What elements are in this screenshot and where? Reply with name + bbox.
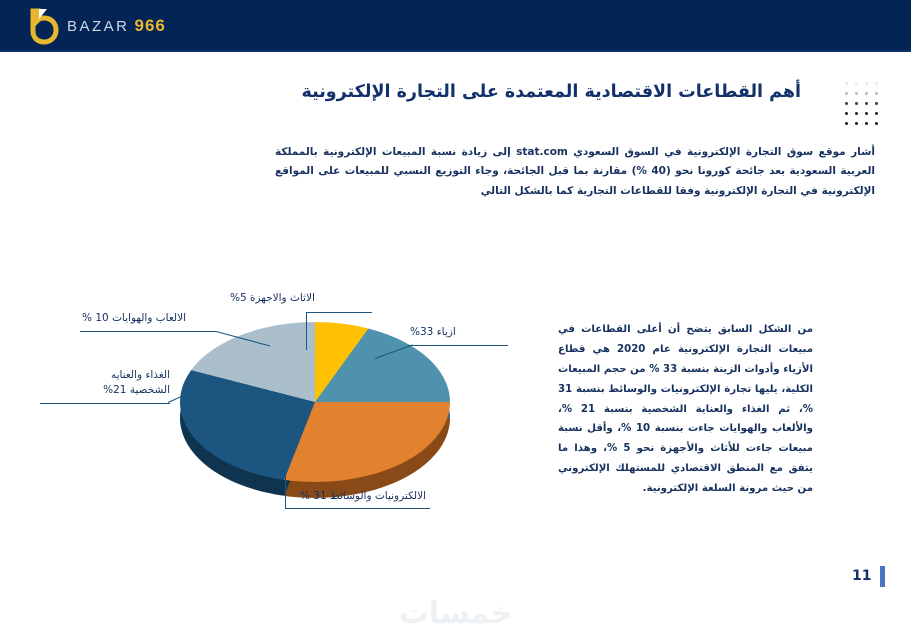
logo-suffix-text: 966 <box>135 16 166 36</box>
pie-leader-toys-h <box>80 331 216 332</box>
pie-leader-electronics-v <box>285 432 286 509</box>
page-number: 11 <box>852 568 871 584</box>
pie-label-food-line1: الغذاء والعنايه <box>58 368 170 383</box>
pie-graphic <box>180 310 450 510</box>
stat-source-link[interactable]: stat.com <box>516 143 568 162</box>
pie-label-furniture: الاثاث والاجهزة 5% <box>230 292 315 304</box>
pie-label-toys: الالعاب والهوايات 10 % <box>82 312 186 324</box>
pie-leader-furniture-h <box>306 312 372 313</box>
decorative-dot-grid <box>838 82 878 132</box>
page-number-bar <box>880 566 885 587</box>
pie-leader-fashion-h <box>408 345 508 346</box>
watermark: خمسات <box>0 596 911 631</box>
b-logo-icon <box>25 7 59 45</box>
page-title: أهم القطاعات الاقتصادية المعتمدة على الت… <box>301 82 801 102</box>
header-accent-line <box>0 50 911 52</box>
pie-leader-food-h <box>40 403 170 404</box>
logo-brand-text: BAZAR <box>67 18 130 35</box>
pie-chart: ازياء 33% الالكترونيات والوسائط 31 % الغ… <box>20 250 540 540</box>
pie-label-electronics: الالكترونيات والوسائط 31 % <box>300 490 426 502</box>
intro-paragraph: أشار موقع سوق التجارة الإلكترونية في الس… <box>275 143 875 201</box>
pie-label-food-line2: الشخصية 21% <box>58 383 170 398</box>
slide-page: BAZAR 966 أهم القطاعات الاقتصادية المعتم… <box>0 0 911 640</box>
logo-wordmark: BAZAR 966 <box>67 16 166 36</box>
pie-leader-electronics-h <box>285 508 430 509</box>
brand-logo[interactable]: BAZAR 966 <box>25 6 166 46</box>
pie-label-food: الغذاء والعنايه الشخصية 21% <box>58 368 170 398</box>
pie-leader-furniture-v <box>306 312 307 350</box>
analysis-paragraph: من الشكل السابق يتضح أن أعلى القطاعات في… <box>558 320 813 499</box>
intro-text-before: أشار موقع سوق التجارة الإلكترونية في الس… <box>568 146 875 158</box>
pie-label-fashion: ازياء 33% <box>410 326 456 338</box>
